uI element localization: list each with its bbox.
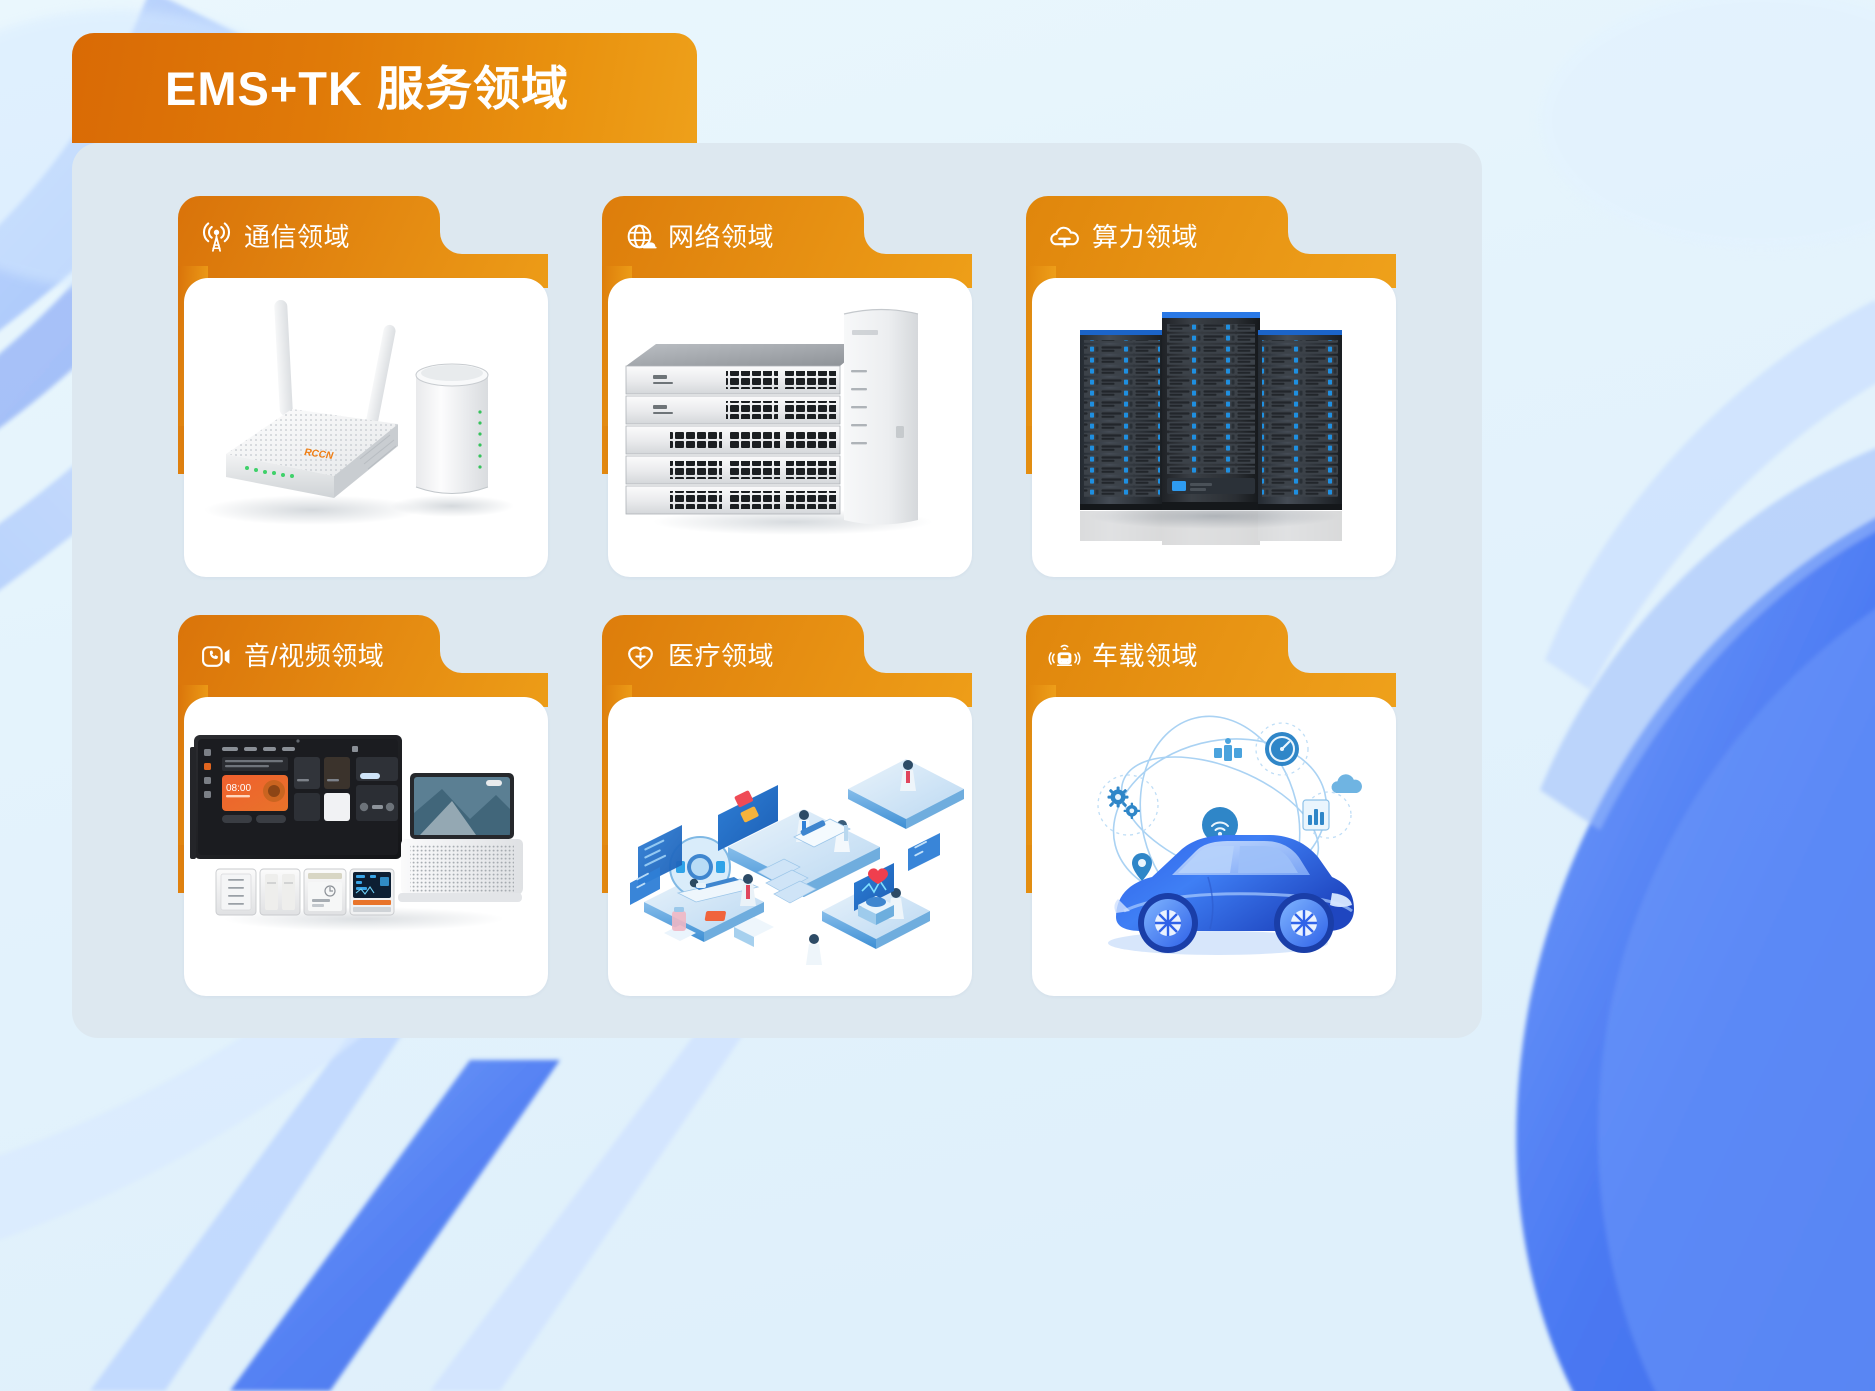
domain-card-computing[interactable]: 算力领域 <box>1026 196 1396 577</box>
card-image-area <box>1032 278 1396 577</box>
artwork-network-switches-and-nas <box>608 278 972 577</box>
artwork-smart-hospital-isometric <box>608 697 972 996</box>
domain-card-audio-video[interactable]: 08:00 <box>178 615 548 996</box>
artwork-smart-display-and-panels: 08:00 <box>184 697 548 996</box>
title-banner: EMS+TK 服务领域 <box>72 33 697 143</box>
artwork-wifi-router-and-cpe: RCCN <box>184 278 548 577</box>
page-title: EMS+TK 服务领域 <box>165 65 569 112</box>
domain-card-grid: RCCN 通信领域 <box>178 196 1396 996</box>
domain-card-automotive[interactable]: 车载领域 <box>1026 615 1396 996</box>
artwork-connected-vehicle <box>1032 697 1396 996</box>
card-image-area: 08:00 <box>184 697 548 996</box>
domain-card-medical[interactable]: 医疗领域 <box>602 615 972 996</box>
card-image-area <box>608 278 972 577</box>
card-image-area <box>608 697 972 996</box>
domain-card-communication[interactable]: RCCN 通信领域 <box>178 196 548 577</box>
svg-text:08:00: 08:00 <box>226 783 251 794</box>
domain-card-network[interactable]: 网络领域 <box>602 196 972 577</box>
card-image-area <box>1032 697 1396 996</box>
card-image-area: RCCN <box>184 278 548 577</box>
artwork-server-racks <box>1032 278 1396 577</box>
